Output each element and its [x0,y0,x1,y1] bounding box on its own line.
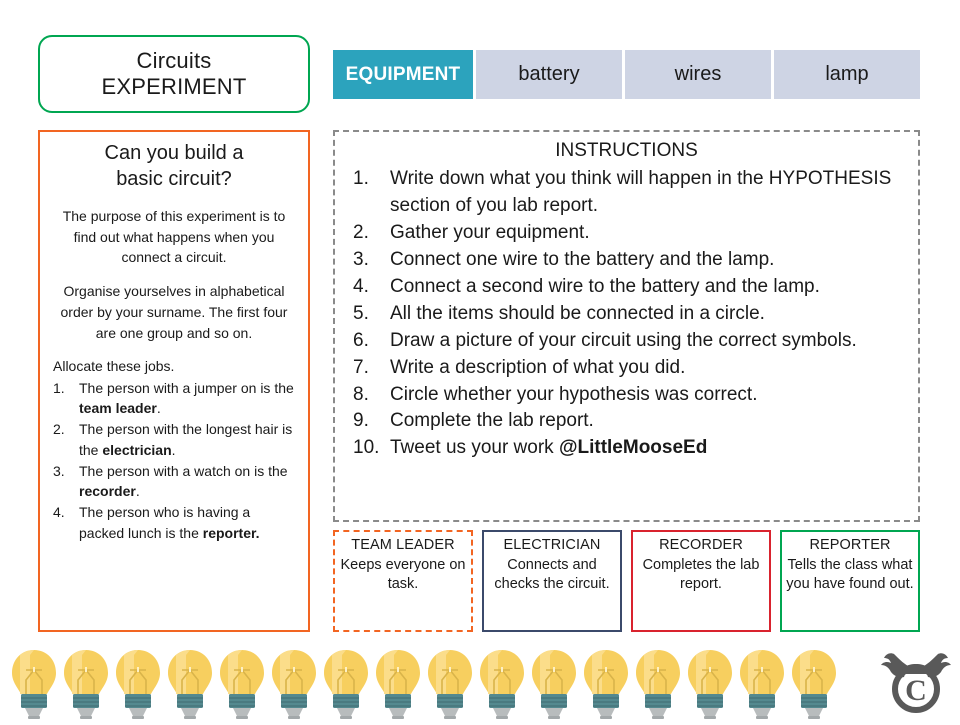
instruction-number: 1. [353,166,369,193]
instruction-item: 2.Gather your equipment. [345,220,908,247]
research-question-line-2: basic circuit? [50,166,298,192]
job-text: The person who is having a packed lunch … [79,504,260,540]
equipment-bar: EQUIPMENT battery wires lamp [333,50,920,99]
lightbulb-icon [372,648,424,720]
instruction-text: Write a description of what you did. [390,357,685,378]
instruction-item: 4.Connect a second wire to the battery a… [345,274,908,301]
role-name: REPORTER [809,536,890,556]
little-moose-copyright-logo: C [878,644,954,716]
job-emphasis: recorder [79,483,136,499]
lightbulb-icon [788,648,840,720]
instruction-text: Connect a second wire to the battery and… [390,276,820,297]
role-description: Tells the class what you have found out. [782,556,918,595]
instruction-item: 10.Tweet us your work @LittleMooseEd [345,435,908,462]
job-text: The person with the longest hair is the … [79,421,292,457]
job-number: 3. [53,461,65,481]
job-number: 4. [53,502,65,522]
instructions-panel: INSTRUCTIONS 1.Write down what you think… [333,130,920,522]
instruction-text: Tweet us your work @LittleMooseEd [390,437,707,458]
instructions-list: 1.Write down what you think will happen … [345,166,908,463]
lightbulb-decoration-strip [0,645,960,720]
lightbulb-icon [268,648,320,720]
instruction-item: 9.Complete the lab report. [345,408,908,435]
title-line-1: Circuits [137,48,212,74]
role-box-recorder: RECORDERCompletes the lab report. [631,530,771,632]
instruction-number: 6. [353,328,369,355]
instruction-number: 2. [353,220,369,247]
svg-text:C: C [905,674,927,707]
left-info-panel: Can you build a basic circuit? The purpo… [38,130,310,632]
job-item: 3.The person with a watch on is the reco… [50,461,298,502]
job-emphasis: reporter. [203,525,260,541]
equipment-item-wires: wires [625,50,771,99]
lightbulb-icon [112,648,164,720]
job-emphasis: electrician [102,442,171,458]
job-item: 2.The person with the longest hair is th… [50,419,298,460]
instruction-number: 7. [353,355,369,382]
instruction-text: Complete the lab report. [390,410,594,431]
role-description: Completes the lab report. [633,556,769,595]
role-name: ELECTRICIAN [504,536,601,556]
title-line-2: EXPERIMENT [101,74,246,100]
role-box-team-leader: TEAM LEADERKeeps everyone on task. [333,530,473,632]
equipment-header-label: EQUIPMENT [333,50,473,99]
lightbulb-icon [580,648,632,720]
instruction-item: 6.Draw a picture of your circuit using t… [345,328,908,355]
lightbulb-icon [424,648,476,720]
lightbulb-icon [320,648,372,720]
instruction-number: 4. [353,274,369,301]
role-description: Keeps everyone on task. [335,556,471,595]
instruction-text: Write down what you think will happen in… [390,168,891,216]
instruction-item: 7.Write a description of what you did. [345,355,908,382]
job-number: 2. [53,419,65,439]
instruction-number: 10. [353,435,379,462]
lightbulb-icon [736,648,788,720]
job-item: 4.The person who is having a packed lunc… [50,502,298,543]
role-description: Connects and checks the circuit. [484,556,620,595]
lightbulb-icon [164,648,216,720]
role-name: TEAM LEADER [351,536,454,556]
job-emphasis: team leader [79,400,157,416]
instruction-item: 1.Write down what you think will happen … [345,166,908,220]
lightbulb-icon [632,648,684,720]
instruction-text: Gather your equipment. [390,222,590,243]
job-number: 1. [53,378,65,398]
instruction-number: 5. [353,301,369,328]
lightbulb-icon [684,648,736,720]
lightbulb-icon [8,648,60,720]
research-question-line-1: Can you build a [50,140,298,166]
instruction-number: 9. [353,408,369,435]
role-boxes-row: TEAM LEADERKeeps everyone on task.ELECTR… [333,530,920,632]
instruction-item: 5.All the items should be connected in a… [345,301,908,328]
instruction-number: 8. [353,382,369,409]
lightbulb-icon [476,648,528,720]
instruction-item: 8.Circle whether your hypothesis was cor… [345,382,908,409]
lightbulb-icon [528,648,580,720]
worksheet-title-box: Circuits EXPERIMENT [38,35,310,113]
job-text: The person with a jumper on is the team … [79,380,294,416]
instruction-number: 3. [353,247,369,274]
instruction-emphasis: @LittleMooseEd [559,437,707,458]
lightbulb-icon [216,648,268,720]
jobs-list: 1.The person with a jumper on is the tea… [50,378,298,543]
instruction-text: All the items should be connected in a c… [390,303,765,324]
organise-paragraph: Organise yourselves in alphabetical orde… [50,281,298,343]
job-item: 1.The person with a jumper on is the tea… [50,378,298,419]
role-name: RECORDER [659,536,743,556]
instruction-text: Draw a picture of your circuit using the… [390,330,857,351]
role-box-electrician: ELECTRICIANConnects and checks the circu… [482,530,622,632]
allocate-jobs-label: Allocate these jobs. [50,356,298,376]
purpose-paragraph: The purpose of this experiment is to fin… [50,206,298,268]
instruction-item: 3.Connect one wire to the battery and th… [345,247,908,274]
job-text: The person with a watch on is the record… [79,463,288,499]
role-box-reporter: REPORTERTells the class what you have fo… [780,530,920,632]
instruction-text: Connect one wire to the battery and the … [390,249,774,270]
equipment-item-battery: battery [476,50,622,99]
lightbulb-icon [60,648,112,720]
instructions-title: INSTRUCTIONS [345,139,908,163]
research-question: Can you build a basic circuit? [50,140,298,192]
equipment-item-lamp: lamp [774,50,920,99]
instruction-text: Circle whether your hypothesis was corre… [390,384,757,405]
